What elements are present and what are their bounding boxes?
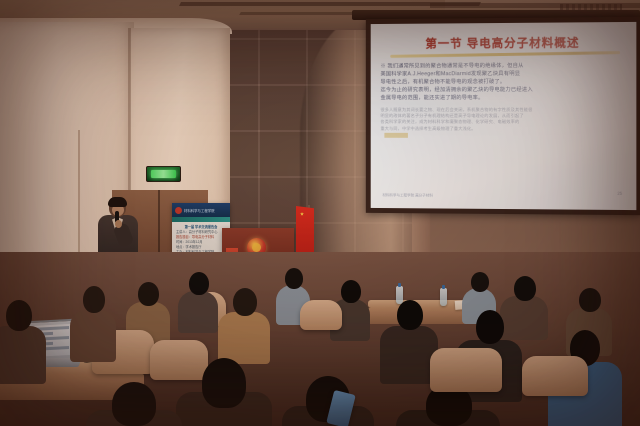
attendee xyxy=(178,272,218,330)
exit-sign-glow xyxy=(151,170,176,178)
attendee-head xyxy=(233,288,257,316)
attendee-torso xyxy=(70,310,116,362)
chair-back xyxy=(300,300,342,330)
slide-title-underline xyxy=(390,51,620,58)
slide-small-line: 重大与同，中学中选择考生高级物理了重大浅化。 xyxy=(380,126,626,132)
attendee-torso xyxy=(218,312,270,364)
attendee-head xyxy=(6,300,32,331)
attendee-head xyxy=(471,272,489,292)
attendee-head xyxy=(476,310,504,344)
ceiling-beam xyxy=(430,3,640,8)
attendee-head xyxy=(138,282,159,306)
slide-page-number: 25 xyxy=(617,191,622,196)
slide-body-line: 金属导电的范围，能还实进了期的导电率。 xyxy=(380,94,626,102)
emergency-exit-sign: 安全出口 xyxy=(146,166,181,182)
speaker-hand xyxy=(115,220,122,228)
banner-header: 材料科学与工程学院 xyxy=(172,203,230,217)
banner-header-text: 材料科学与工程学院 xyxy=(184,208,215,213)
slide-footnote-block: 很多人随意为其词长要之物、现在后会关闭，系机聚合物的有字性质及其性能很 明显的改… xyxy=(380,107,626,132)
attendee-torso xyxy=(0,326,46,384)
projection-screen: 第一节 导电高分子材料概述 ※ 我们通常所见到的聚合物通常是不导电的绝缘体，但自… xyxy=(371,22,637,210)
chair-back xyxy=(522,356,588,396)
attendee-head xyxy=(397,300,423,330)
attendee xyxy=(70,286,116,356)
slide-highlight-marker xyxy=(384,133,408,138)
attendee xyxy=(0,300,46,380)
water-bottle xyxy=(440,288,447,306)
attendee-head xyxy=(514,276,536,301)
attendee-head xyxy=(285,268,303,289)
panel-seam xyxy=(78,130,80,270)
chair-back xyxy=(430,348,502,392)
attendee-front xyxy=(176,358,272,426)
banner-logo-icon xyxy=(175,207,182,214)
seal-inner xyxy=(252,243,261,252)
attendee-head xyxy=(112,382,156,426)
attendee xyxy=(218,288,270,358)
attendee-head xyxy=(189,272,209,295)
attendee-torso xyxy=(178,291,218,333)
lecture-hall-photo: 安全出口 第一节 导电高分子材料概述 ※ 我们通常所见到的聚合物通常是不导电的绝… xyxy=(0,0,640,426)
slide-footer: 材料科学与工程学院 高分子材料 xyxy=(382,193,432,198)
speaker-hair xyxy=(108,197,127,207)
projection-screen-frame: 第一节 导电高分子材料概述 ※ 我们通常所见到的聚合物通常是不导电的绝缘体，但自… xyxy=(366,17,640,215)
attendee-head xyxy=(341,280,361,303)
banner-accent-bar xyxy=(172,217,230,222)
attendee-head xyxy=(83,286,105,313)
attendee-front xyxy=(86,382,182,426)
presentation-slide: 第一节 导电高分子材料概述 ※ 我们通常所见到的聚合物通常是不导电的绝缘体，但自… xyxy=(371,22,637,210)
attendee-head xyxy=(579,288,601,312)
attendee-head xyxy=(202,358,246,408)
slide-title: 第一节 导电高分子材料概述 xyxy=(380,34,626,52)
banner-body: 第一届 学术交流报告会 主讲人：高分子材料研究中心 报告题目：导电高分子材料 时… xyxy=(176,225,226,255)
